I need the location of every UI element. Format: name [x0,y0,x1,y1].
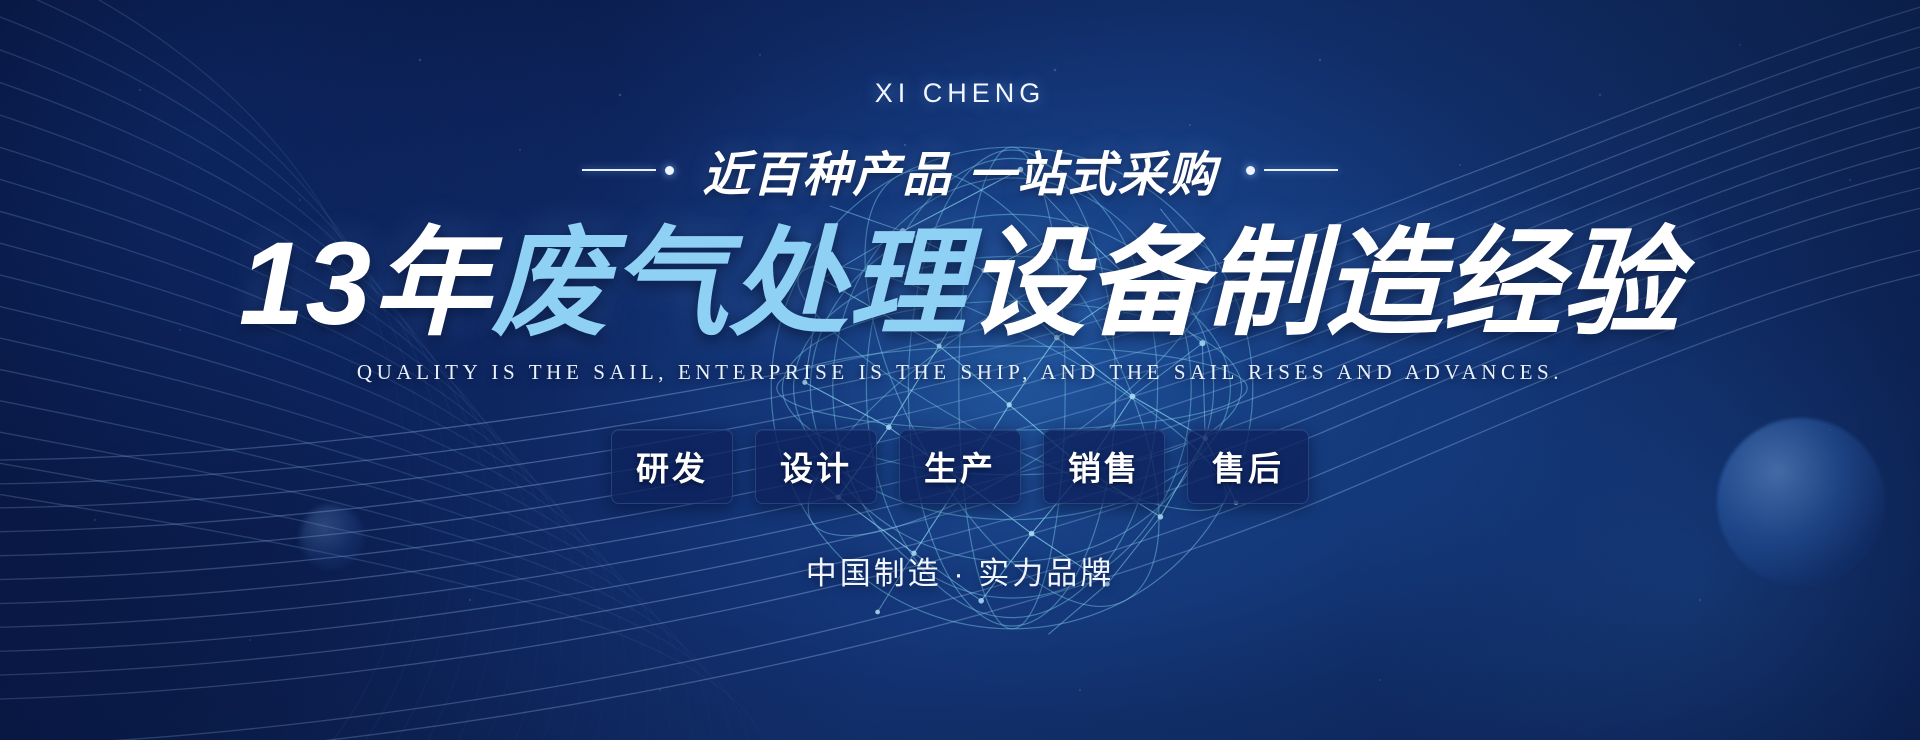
banner-headline: 13年废气处理设备制造经验 [239,221,1681,348]
brand-name-en: XI CHENG [875,78,1046,109]
headline-part-3: 设备制造经验 [967,218,1681,350]
banner-tagline-en: QUALITY IS THE SAIL, ENTERPRISE IS THE S… [357,360,1563,385]
service-pill-aftersales[interactable]: 售后 [1187,429,1309,504]
decor-line-right [1246,166,1338,175]
service-pill-production[interactable]: 生产 [899,429,1021,504]
banner-footer-text: 中国制造 · 实力品牌 [806,548,1115,593]
decor-dot-left-icon [665,166,674,175]
service-pill-sales[interactable]: 销售 [1043,429,1165,504]
decor-line-left [582,166,674,175]
banner-content: XI CHENG 近百种产品 一站式采购 13年废气处理设备制造经验 QUALI… [0,0,1920,740]
service-pill-rd[interactable]: 研发 [611,429,733,504]
decor-bar-right-icon [1264,169,1338,171]
decor-dot-right-icon [1246,166,1255,175]
service-pill-list: 研发 设计 生产 销售 售后 [611,429,1309,504]
banner-subtitle: 近百种产品 一站式采购 [702,135,1217,205]
hero-banner: XI CHENG 近百种产品 一站式采购 13年废气处理设备制造经验 QUALI… [0,0,1920,740]
decor-bar-left-icon [582,169,656,171]
headline-highlight: 废气处理 [491,218,967,350]
subtitle-row: 近百种产品 一站式采购 [582,135,1337,205]
service-pill-design[interactable]: 设计 [755,429,877,504]
headline-part-1: 13年 [239,218,491,350]
